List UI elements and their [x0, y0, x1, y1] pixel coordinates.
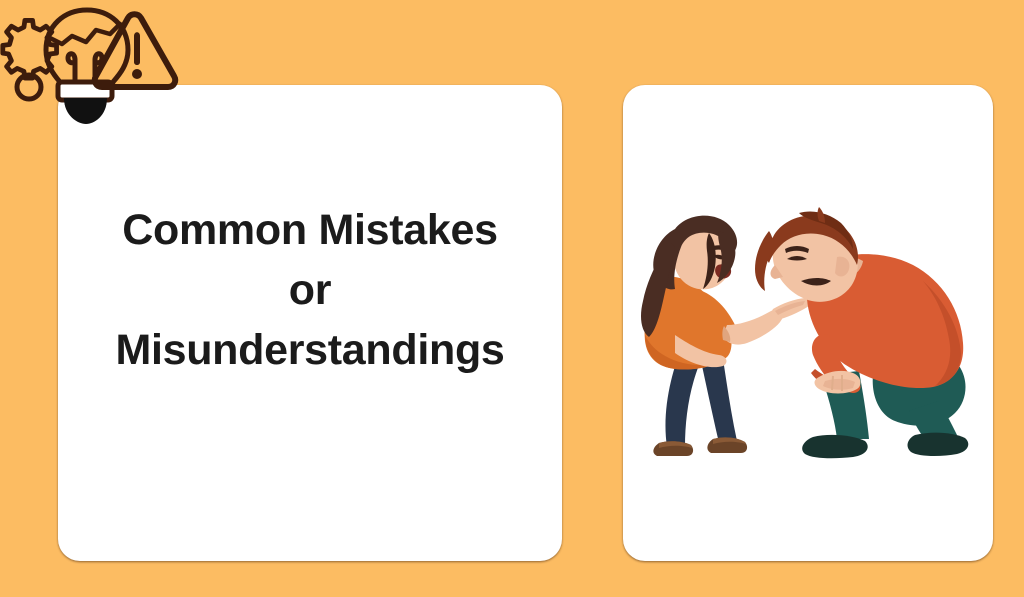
gear-icon	[3, 20, 57, 99]
slide-canvas: Common Mistakes or Misunderstandings	[0, 0, 1024, 597]
headline-line-1: Common Mistakes	[58, 200, 562, 260]
warning-triangle-icon	[95, 14, 175, 87]
woman-scolding-man-illustration	[623, 185, 993, 465]
headline-line-2: or	[58, 260, 562, 320]
page-title: Common Mistakes or Misunderstandings	[58, 200, 562, 380]
man-crouching-figure	[755, 207, 968, 458]
headline-line-3: Misunderstandings	[58, 320, 562, 380]
